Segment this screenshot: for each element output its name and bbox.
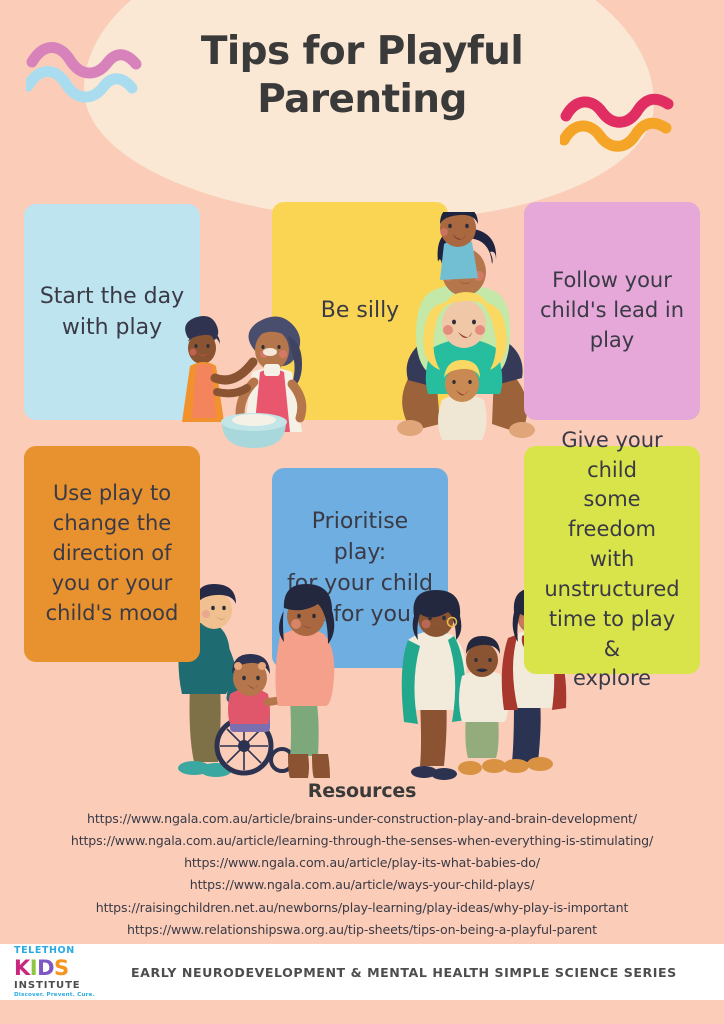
resources-link-list: https://www.ngala.com.au/article/brains-… bbox=[0, 808, 724, 941]
logo-kids-text: KIDS bbox=[14, 958, 96, 979]
page-title: Tips for Playful Parenting bbox=[0, 28, 724, 125]
footer-series-text: EARLY NEURODEVELOPMENT & MENTAL HEALTH S… bbox=[131, 965, 677, 980]
tip-card-unstructured-time[interactable]: Give your child some freedom with unstru… bbox=[524, 446, 700, 674]
resource-link[interactable]: https://www.ngala.com.au/article/ways-yo… bbox=[0, 874, 724, 896]
logo-letter-k: K bbox=[14, 956, 30, 980]
logo-letter-s: S bbox=[54, 956, 69, 980]
logo-tagline: Discover. Prevent. Cure. bbox=[14, 992, 96, 998]
tip-card-follow-childs-lead[interactable]: Follow your child's lead in play bbox=[524, 202, 700, 420]
tip-card-label: Use play to change the direction of you … bbox=[38, 479, 186, 628]
infographic-poster: Tips for Playful Parenting Start the day… bbox=[0, 0, 724, 1024]
resource-link[interactable]: https://www.ngala.com.au/article/play-it… bbox=[0, 852, 724, 874]
resource-link[interactable]: https://raisingchildren.net.au/newborns/… bbox=[0, 897, 724, 919]
page-title-line-2: Parenting bbox=[0, 76, 724, 124]
footer-divider bbox=[106, 952, 107, 992]
logo-institute-text: INSTITUTE bbox=[14, 980, 96, 991]
tip-card-change-direction-of-mood[interactable]: Use play to change the direction of you … bbox=[24, 446, 200, 662]
logo-letter-d: D bbox=[37, 956, 54, 980]
footer-bar: TELETHON KIDS INSTITUTE Discover. Preven… bbox=[0, 944, 724, 1000]
telethon-kids-institute-logo: TELETHON KIDS INSTITUTE Discover. Preven… bbox=[14, 946, 96, 997]
logo-letter-i: I bbox=[30, 956, 37, 980]
resource-link[interactable]: https://www.relationshipswa.org.au/tip-s… bbox=[0, 919, 724, 941]
resource-link[interactable]: https://www.ngala.com.au/article/learnin… bbox=[0, 830, 724, 852]
page-title-line-1: Tips for Playful bbox=[0, 28, 724, 76]
resource-link[interactable]: https://www.ngala.com.au/article/brains-… bbox=[0, 808, 724, 830]
illustration-mother-and-child-baking bbox=[160, 300, 340, 460]
resources-heading: Resources bbox=[0, 780, 724, 802]
tip-card-label: Follow your child's lead in play bbox=[538, 266, 686, 355]
tip-card-label: Give your child some freedom with unstru… bbox=[538, 426, 686, 694]
